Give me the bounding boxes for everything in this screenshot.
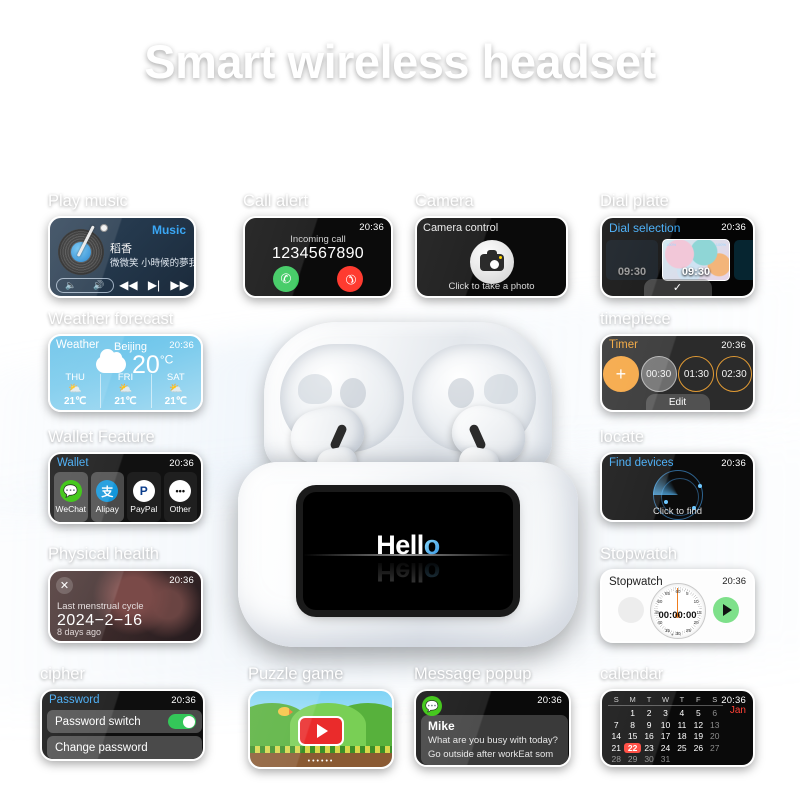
dial-number: 60 bbox=[676, 589, 681, 594]
playback-controls: ◀◀ ▶| ▶▶ bbox=[114, 278, 194, 292]
locate-title: Find devices bbox=[609, 457, 674, 469]
calendar-day[interactable]: 12 bbox=[690, 720, 706, 730]
poster-root: Smart wireless headset WT-2 Full color t… bbox=[0, 0, 800, 800]
dial-number: 5 bbox=[686, 591, 689, 596]
calendar-day[interactable]: 30 bbox=[641, 754, 657, 764]
close-icon[interactable]: ✕ bbox=[56, 577, 73, 594]
day-name: FRI bbox=[100, 372, 150, 383]
forecast-day: SAT ⛅ 21℃ bbox=[151, 372, 201, 407]
camera-title: Camera control bbox=[423, 222, 498, 234]
feature-label: calendar bbox=[600, 665, 755, 684]
day-temp: 21℃ bbox=[50, 396, 100, 407]
weather-title: Weather bbox=[56, 339, 99, 351]
feature-label: locate bbox=[600, 428, 755, 447]
calendar-day[interactable]: 1 bbox=[624, 708, 640, 718]
calendar-day[interactable]: 8 bbox=[624, 720, 640, 730]
calendar-day[interactable]: 21 bbox=[608, 743, 624, 753]
calendar-day[interactable]: 29 bbox=[624, 754, 640, 764]
music-app-label: Music bbox=[152, 223, 186, 237]
password-switch-label: Password switch bbox=[55, 716, 141, 728]
feature-label: Weather forecast bbox=[48, 310, 203, 329]
status-clock: 20:36 bbox=[171, 695, 196, 706]
calendar-day[interactable]: 28 bbox=[608, 754, 624, 764]
password-title: Password bbox=[49, 694, 100, 706]
battery-mini-label: 100% bbox=[666, 242, 676, 247]
timer-preset[interactable]: 00:30 bbox=[641, 356, 677, 392]
wallet-apps: 💬 WeChat 支 Alipay P PayPal ••• Other bbox=[50, 472, 201, 522]
calendar-day[interactable]: 14 bbox=[608, 731, 624, 741]
paypal-icon: P bbox=[133, 480, 155, 502]
calendar-day[interactable]: 27 bbox=[707, 743, 723, 753]
feature-puzzle-game: Puzzle game •••••• bbox=[248, 665, 394, 769]
slot-notch-icon bbox=[484, 374, 518, 404]
battery-mini-label: 100% bbox=[716, 242, 726, 247]
play-pause-icon[interactable]: ▶| bbox=[148, 278, 160, 292]
page-indicator: •••••• bbox=[250, 758, 392, 765]
wallet-app-label: WeChat bbox=[55, 504, 86, 514]
status-clock: 20:36 bbox=[537, 695, 562, 706]
feature-weather-forecast: Weather forecast Weather Beijing 20:36 2… bbox=[48, 310, 203, 412]
password-toggle[interactable] bbox=[168, 714, 196, 729]
status-clock: 20:36 bbox=[721, 222, 746, 233]
song-lyrics: 微微笑 小時候的夢我知道 bbox=[110, 255, 196, 269]
feature-label: timepiece bbox=[600, 310, 755, 329]
timer-presets: + 00:30 01:30 02:30 bbox=[602, 356, 753, 392]
dial-screen[interactable]: Dial selection 20:36 09:30 100% 100% 09:… bbox=[600, 216, 755, 298]
radar-blip-icon bbox=[664, 500, 668, 504]
screen-greeting-reflection: Hello bbox=[303, 556, 513, 587]
dial-carousel[interactable]: 09:30 100% 100% 09:30 09: bbox=[602, 238, 753, 282]
dial-number: 15 bbox=[697, 610, 702, 615]
stopwatch-screen[interactable]: Stopwatch 20:36 00:00:00 510152025303540… bbox=[600, 569, 755, 643]
alipay-icon: 支 bbox=[96, 480, 118, 502]
calendar-screen[interactable]: 20:36 Jan SMTWTFS 1234567891011121314151… bbox=[600, 689, 755, 767]
locate-screen[interactable]: Find devices 20:36 Click to find bbox=[600, 452, 755, 522]
feature-locate: locate Find devices 20:36 Click to find bbox=[600, 428, 755, 522]
dial-number: 20 bbox=[694, 620, 699, 625]
calendar-day[interactable]: 22 bbox=[624, 743, 640, 753]
accept-call-button[interactable]: ✆ bbox=[273, 266, 299, 292]
wallet-app-alipay[interactable]: 支 Alipay bbox=[91, 472, 125, 522]
cipher-screen[interactable]: Password 20:36 Password switch Change pa… bbox=[40, 689, 205, 761]
previous-track-icon[interactable]: ◀◀ bbox=[119, 278, 137, 292]
wechat-icon: 💬 bbox=[60, 480, 82, 502]
day-name: THU bbox=[50, 372, 100, 383]
calendar-weekday: M bbox=[624, 695, 640, 704]
check-icon: ✓ bbox=[673, 281, 682, 294]
status-clock: 20:36 bbox=[722, 576, 746, 587]
feature-call-alert: Call alert 20:36 Incoming call 123456789… bbox=[243, 192, 393, 298]
calendar-day[interactable]: 25 bbox=[674, 743, 690, 753]
wallet-title: Wallet bbox=[57, 457, 89, 469]
play-icon bbox=[723, 604, 732, 616]
page-indicator: • · bbox=[602, 632, 753, 639]
calendar-day[interactable]: 24 bbox=[657, 743, 673, 753]
day-temp: 21℃ bbox=[100, 396, 150, 407]
feature-label: Wallet Feature bbox=[48, 428, 203, 447]
status-clock: 20:36 bbox=[169, 458, 194, 469]
weather-icon: ⛅ bbox=[100, 383, 150, 396]
forecast-day: THU ⛅ 21℃ bbox=[50, 372, 100, 407]
camera-hint: Click to take a photo bbox=[417, 281, 566, 292]
phone-hangup-icon: ✆ bbox=[340, 269, 359, 288]
status-clock: 20:36 bbox=[721, 340, 746, 351]
password-switch-row[interactable]: Password switch bbox=[47, 710, 202, 733]
dial-number: 40 bbox=[657, 620, 662, 625]
calendar-weekday: T bbox=[674, 695, 690, 704]
camera-screen[interactable]: Camera control Click to take a photo bbox=[415, 216, 568, 298]
watch-face-time: 09:30 bbox=[663, 266, 729, 278]
watch-face-selected[interactable]: 100% 100% 09:30 bbox=[662, 239, 730, 281]
watch-face-time: 09: bbox=[734, 266, 755, 278]
health-screen[interactable]: ✕ 20:36 Last menstrual cycle 2024−2−16 8… bbox=[48, 569, 203, 643]
bird-icon bbox=[278, 707, 290, 716]
calendar-weekday-header: SMTWTFS bbox=[608, 695, 723, 706]
caller-number: 1234567890 bbox=[245, 245, 391, 263]
weather-screen[interactable]: Weather Beijing 20:36 20°C THU ⛅ 21℃ FRI… bbox=[48, 334, 203, 412]
change-password-row[interactable]: Change password bbox=[47, 736, 202, 759]
calendar-day[interactable]: 11 bbox=[674, 720, 690, 730]
page-title: Smart wireless headset bbox=[0, 34, 800, 89]
message-line-1: What are you busy with today? bbox=[428, 735, 561, 747]
grass-strip bbox=[250, 746, 392, 753]
wallet-app-other[interactable]: ••• Other bbox=[164, 472, 198, 522]
calendar-day[interactable]: 5 bbox=[690, 708, 706, 718]
feature-physical-health: Physical health ✕ 20:36 Last menstrual c… bbox=[48, 545, 203, 643]
forecast-day: FRI ⛅ 21℃ bbox=[100, 372, 150, 407]
subtitle-primary: Full color touch screen, call alert musi… bbox=[162, 106, 669, 125]
calendar-day[interactable]: 16 bbox=[641, 731, 657, 741]
message-sender: Mike bbox=[428, 719, 561, 733]
feature-label: Message popup bbox=[414, 665, 571, 684]
start-button[interactable] bbox=[713, 597, 739, 623]
locate-hint: Click to find bbox=[602, 506, 753, 517]
health-subtitle: Last menstrual cycle bbox=[57, 601, 144, 612]
feature-play-music: Play music Music 稻香 微微笑 小時候的夢我知道 🔈 🔊 ◀◀ … bbox=[48, 192, 196, 298]
feature-calendar: calendar 20:36 Jan SMTWTFS 1234567891011… bbox=[600, 665, 755, 767]
wechat-icon: 💬 bbox=[422, 696, 442, 716]
timer-preset[interactable]: 01:30 bbox=[678, 356, 714, 392]
camera-icon bbox=[480, 254, 504, 271]
plus-icon: + bbox=[616, 364, 627, 385]
feature-label: Play music bbox=[48, 192, 196, 211]
feature-cipher: cipher Password 20:36 Password switch Ch… bbox=[40, 665, 205, 761]
device-touchscreen[interactable]: Hello Hello bbox=[303, 492, 513, 610]
watch-face-time: 09:30 bbox=[606, 266, 658, 278]
message-bubble[interactable]: Mike What are you busy with today? Go ou… bbox=[421, 715, 568, 765]
song-title: 稻香 bbox=[110, 240, 132, 256]
timer-preset[interactable]: 02:30 bbox=[716, 356, 752, 392]
slot-hole-icon bbox=[448, 378, 474, 408]
wallet-app-paypal[interactable]: P PayPal bbox=[127, 472, 161, 522]
calendar-day[interactable]: 9 bbox=[641, 720, 657, 730]
music-control-bar: 🔈 🔊 ◀◀ ▶| ▶▶ bbox=[50, 274, 194, 296]
message-screen[interactable]: 💬 20:36 Mike What are you busy with toda… bbox=[414, 689, 571, 767]
edit-timer-button[interactable]: Edit bbox=[646, 394, 710, 410]
wallet-screen[interactable]: Wallet 20:36 💬 WeChat 支 Alipay P PayPal … bbox=[48, 452, 203, 524]
volume-control[interactable]: 🔈 🔊 bbox=[56, 278, 114, 293]
calendar-weekday: F bbox=[690, 695, 706, 704]
dial-number: 45 bbox=[655, 610, 660, 615]
feature-label: Stopwatch bbox=[600, 545, 755, 564]
calendar-day[interactable]: 3 bbox=[657, 708, 673, 718]
feature-label: Call alert bbox=[243, 192, 393, 211]
watch-face-option[interactable]: 09: bbox=[734, 240, 755, 280]
calendar-day[interactable]: 10 bbox=[657, 720, 673, 730]
calendar-blank bbox=[608, 708, 624, 718]
dial-number: 55 bbox=[665, 591, 670, 596]
shutter-button[interactable] bbox=[470, 240, 514, 284]
timer-screen[interactable]: Timer 20:36 + 00:30 01:30 02:30 Edit bbox=[600, 334, 755, 412]
calendar-day[interactable]: 15 bbox=[624, 731, 640, 741]
slot-notch-icon bbox=[298, 374, 332, 404]
feature-label: Dial plate bbox=[600, 192, 755, 211]
timer-title: Timer bbox=[609, 339, 638, 351]
lap-reset-button[interactable] bbox=[618, 597, 644, 623]
feature-stopwatch: Stopwatch Stopwatch 20:36 00:00:00 51015… bbox=[600, 545, 755, 643]
dial-number: 10 bbox=[694, 599, 699, 604]
calendar-day[interactable]: 7 bbox=[608, 720, 624, 730]
calendar-day[interactable]: 31 bbox=[657, 754, 673, 764]
wallet-app-label: PayPal bbox=[130, 504, 157, 514]
decline-call-button[interactable]: ✆ bbox=[337, 266, 363, 292]
status-clock: 20:36 bbox=[721, 458, 746, 469]
add-timer-button[interactable]: + bbox=[603, 356, 639, 392]
day-name: SAT bbox=[151, 372, 201, 383]
feature-timepiece: timepiece Timer 20:36 + 00:30 01:30 02:3… bbox=[600, 310, 755, 412]
calendar-month: Jan bbox=[730, 705, 746, 716]
call-screen[interactable]: 20:36 Incoming call 1234567890 ✆ ✆ bbox=[243, 216, 393, 298]
volume-down-icon[interactable]: 🔈 bbox=[65, 280, 76, 291]
calendar-day[interactable]: 6 bbox=[707, 708, 723, 718]
music-screen[interactable]: Music 稻香 微微笑 小時候的夢我知道 🔈 🔊 ◀◀ ▶| ▶▶ bbox=[48, 216, 196, 298]
calendar-day[interactable]: 13 bbox=[707, 720, 723, 730]
calendar-weekday: W bbox=[657, 695, 673, 704]
wallet-app-label: Alipay bbox=[96, 504, 119, 514]
stopwatch-title: Stopwatch bbox=[609, 576, 663, 588]
phone-icon: ✆ bbox=[281, 271, 292, 287]
day-temp: 21℃ bbox=[151, 396, 201, 407]
feature-wallet: Wallet Feature Wallet 20:36 💬 WeChat 支 A… bbox=[48, 428, 203, 524]
calendar-day[interactable]: 23 bbox=[641, 743, 657, 753]
play-game-button[interactable] bbox=[298, 716, 344, 746]
feature-label: cipher bbox=[40, 665, 205, 684]
call-status-text: Incoming call bbox=[245, 234, 391, 245]
weather-city: Beijing bbox=[114, 341, 147, 353]
dial-title: Dial selection bbox=[609, 221, 680, 235]
feature-label: Puzzle game bbox=[248, 665, 394, 684]
wallet-app-wechat[interactable]: 💬 WeChat bbox=[54, 472, 88, 522]
slot-hole-icon bbox=[340, 378, 366, 408]
status-clock: 20:36 bbox=[169, 340, 194, 351]
forecast-days: THU ⛅ 21℃ FRI ⛅ 21℃ SAT ⛅ 21℃ bbox=[50, 372, 201, 407]
case-base: Hello Hello bbox=[238, 462, 578, 647]
calendar-day-grid[interactable]: 1234567891011121314151617181920212223242… bbox=[608, 708, 723, 764]
calendar-weekday: S bbox=[608, 695, 624, 704]
stopwatch-dial: 00:00:00 51015202530354045505560 bbox=[650, 583, 706, 639]
volume-up-icon[interactable]: 🔊 bbox=[93, 280, 104, 291]
feature-dial-plate: Dial plate Dial selection 20:36 09:30 10… bbox=[600, 192, 755, 298]
cloud-icon bbox=[96, 356, 126, 373]
header: Smart wireless headset WT-2 Full color t… bbox=[0, 0, 800, 185]
status-clock: 20:36 bbox=[169, 575, 194, 586]
feature-camera: Camera Camera control Click to take a ph… bbox=[415, 192, 568, 298]
health-elapsed: 8 days ago bbox=[57, 627, 101, 637]
watch-face-option[interactable]: 09:30 bbox=[606, 240, 658, 280]
feature-label: Camera bbox=[415, 192, 568, 211]
calendar-day[interactable]: 26 bbox=[690, 743, 706, 753]
dial-number: 50 bbox=[657, 599, 662, 604]
feature-label: Physical health bbox=[48, 545, 203, 564]
next-track-icon[interactable]: ▶▶ bbox=[170, 278, 188, 292]
confirm-dial-button[interactable]: ✓ bbox=[644, 279, 712, 296]
camera-hump bbox=[487, 250, 497, 255]
message-line-2: Go outside after workEat som bbox=[428, 749, 561, 761]
game-screen[interactable]: •••••• bbox=[248, 689, 394, 769]
subtitle-secondary: Control, personalized screen saver bbox=[0, 144, 800, 162]
change-password-label: Change password bbox=[55, 742, 148, 754]
earbuds-charging-case: Hello Hello bbox=[238, 322, 578, 662]
radar-blip-icon bbox=[698, 484, 702, 488]
wallet-app-label: Other bbox=[170, 504, 191, 514]
calendar-day[interactable]: 18 bbox=[674, 731, 690, 741]
calendar-weekday: T bbox=[641, 695, 657, 704]
more-icon: ••• bbox=[169, 480, 191, 502]
weather-icon: ⛅ bbox=[50, 383, 100, 396]
calendar-day[interactable]: 20 bbox=[707, 731, 723, 741]
calendar-day[interactable]: 4 bbox=[674, 708, 690, 718]
tonearm-pivot-icon bbox=[100, 224, 108, 232]
feature-message-popup: Message popup 💬 20:36 Mike What are you … bbox=[414, 665, 571, 767]
calendar-day[interactable]: 19 bbox=[690, 731, 706, 741]
model-name: WT-2 bbox=[22, 94, 123, 144]
status-clock: 20:36 bbox=[359, 222, 384, 233]
weather-icon: ⛅ bbox=[151, 383, 201, 396]
calendar-day[interactable]: 17 bbox=[657, 731, 673, 741]
calendar-day[interactable]: 2 bbox=[641, 708, 657, 718]
